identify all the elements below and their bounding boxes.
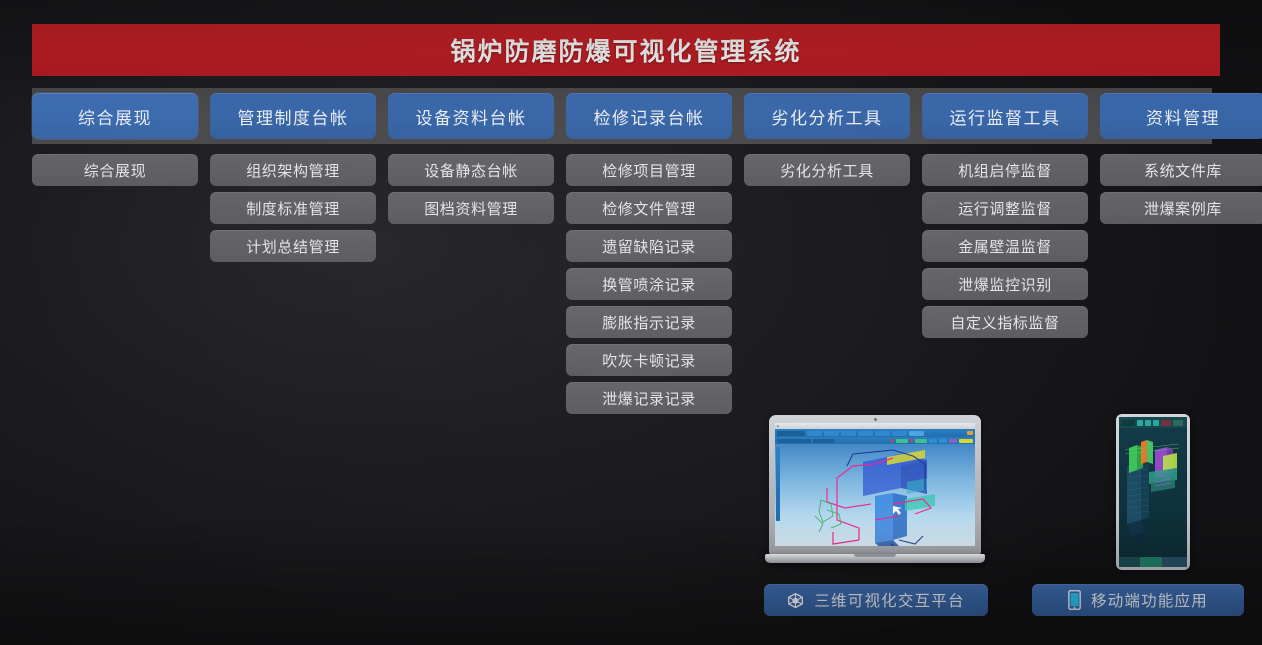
sub-menu-column-4: 劣化分析工具 bbox=[744, 154, 910, 420]
nav-tab-label: 劣化分析工具 bbox=[772, 104, 883, 129]
cube-3d-icon bbox=[787, 592, 804, 609]
phone-app-bottombar bbox=[1119, 557, 1187, 567]
sub-menu-item[interactable]: 泄爆监控识别 bbox=[922, 268, 1088, 300]
sub-menu-item[interactable]: 综合展现 bbox=[32, 154, 198, 186]
phone-toolbar-icon bbox=[1153, 420, 1159, 426]
sub-menu-item[interactable]: 制度标准管理 bbox=[210, 192, 376, 224]
inner-app-tab bbox=[892, 431, 907, 436]
sub-menu-item-label: 劣化分析工具 bbox=[780, 160, 874, 181]
inner-app-action-button bbox=[939, 439, 947, 443]
sub-menu-item-label: 检修项目管理 bbox=[602, 160, 696, 181]
phone-toolbar-icon bbox=[1145, 420, 1151, 426]
nav-tab-0[interactable]: 综合展现 bbox=[32, 93, 198, 139]
sub-menu-item-label: 吹灰卡顿记录 bbox=[602, 350, 696, 371]
inner-app-tab bbox=[858, 431, 873, 436]
sub-menu-column-5: 机组启停监督运行调整监督金属壁温监督泄爆监控识别自定义指标监督 bbox=[922, 154, 1088, 420]
sub-menu-item-label: 运行调整监督 bbox=[958, 198, 1052, 219]
inner-app-tab bbox=[807, 431, 822, 436]
inner-app-action-button bbox=[929, 439, 937, 443]
sub-menu-item[interactable]: 泄爆记录记录 bbox=[566, 382, 732, 414]
nav-tab-label: 综合展现 bbox=[78, 104, 152, 129]
sub-menu-item[interactable]: 计划总结管理 bbox=[210, 230, 376, 262]
laptop-base bbox=[765, 554, 985, 563]
nav-tab-5[interactable]: 运行监督工具 bbox=[922, 93, 1088, 139]
laptop-notch bbox=[854, 554, 896, 557]
inner-app-user-icon bbox=[967, 431, 973, 435]
sub-menu-item[interactable]: 运行调整监督 bbox=[922, 192, 1088, 224]
sub-menu-item-label: 泄爆案例库 bbox=[1144, 198, 1222, 219]
sub-menu-item-label: 图档资料管理 bbox=[424, 198, 518, 219]
nav-tab-label: 管理制度台帐 bbox=[238, 104, 349, 129]
inner-app-legend-pill bbox=[896, 439, 908, 443]
inner-app-status-dot bbox=[891, 439, 894, 442]
nav-tab-label: 资料管理 bbox=[1146, 104, 1220, 129]
sub-menu-item[interactable]: 机组启停监督 bbox=[922, 154, 1088, 186]
mobile-caption-label: 移动端功能应用 bbox=[1091, 589, 1208, 611]
sub-menu-item[interactable]: 设备静态台帐 bbox=[388, 154, 554, 186]
inner-app-tabrow bbox=[775, 429, 975, 437]
sub-menu-column-3: 检修项目管理检修文件管理遗留缺陷记录换管喷涂记录膨胀指示记录吹灰卡顿记录泄爆记录… bbox=[566, 154, 732, 420]
sub-menu-columns: 综合展现组织架构管理制度标准管理计划总结管理设备静态台帐图档资料管理检修项目管理… bbox=[32, 154, 1262, 420]
desktop-showcase-mockup: ■ bbox=[765, 415, 985, 565]
sub-menu-item[interactable]: 检修项目管理 bbox=[566, 154, 732, 186]
inner-app-tab bbox=[841, 431, 856, 436]
inner-app-select bbox=[813, 439, 835, 443]
nav-tab-4[interactable]: 劣化分析工具 bbox=[744, 93, 910, 139]
page-title: 锅炉防磨防爆可视化管理系统 bbox=[450, 32, 801, 68]
phone-toolbar-icon bbox=[1137, 420, 1143, 426]
inner-app-tab bbox=[875, 431, 890, 436]
nav-tab-2[interactable]: 设备资料台帐 bbox=[388, 93, 554, 139]
sub-menu-column-6: 系统文件库泄爆案例库 bbox=[1100, 154, 1262, 420]
sub-menu-item-label: 金属壁温监督 bbox=[958, 236, 1052, 257]
laptop-lid: ■ bbox=[769, 415, 981, 555]
sub-menu-item[interactable]: 遗留缺陷记录 bbox=[566, 230, 732, 262]
sub-menu-item[interactable]: 金属壁温监督 bbox=[922, 230, 1088, 262]
sub-menu-column-1: 组织架构管理制度标准管理计划总结管理 bbox=[210, 154, 376, 420]
sub-menu-item[interactable]: 自定义指标监督 bbox=[922, 306, 1088, 338]
app-title-banner: 锅炉防磨防爆可视化管理系统 bbox=[32, 24, 1220, 76]
mobile-phone-icon bbox=[1068, 590, 1081, 610]
laptop-screen: ■ bbox=[775, 423, 975, 546]
sub-menu-item[interactable]: 换管喷涂记录 bbox=[566, 268, 732, 300]
sub-menu-item[interactable]: 膨胀指示记录 bbox=[566, 306, 732, 338]
sub-menu-item-label: 计划总结管理 bbox=[246, 236, 340, 257]
sub-menu-item-label: 系统文件库 bbox=[1144, 160, 1222, 181]
inner-app-action-button bbox=[949, 439, 957, 443]
sub-menu-item[interactable]: 系统文件库 bbox=[1100, 154, 1262, 186]
sub-menu-item-label: 膨胀指示记录 bbox=[602, 312, 696, 333]
inner-app-legend-pill bbox=[915, 439, 927, 443]
phone-bottom-button bbox=[1140, 557, 1161, 567]
sub-menu-item[interactable]: 泄爆案例库 bbox=[1100, 192, 1262, 224]
nav-tab-label: 设备资料台帐 bbox=[416, 104, 527, 129]
sub-menu-item-label: 检修文件管理 bbox=[602, 198, 696, 219]
sub-menu-item-label: 泄爆记录记录 bbox=[602, 388, 696, 409]
inner-app-tab bbox=[824, 431, 839, 436]
mobile-showcase-mockup bbox=[1116, 414, 1190, 570]
sub-menu-item-label: 自定义指标监督 bbox=[950, 312, 1059, 333]
sub-menu-item-label: 遗留缺陷记录 bbox=[602, 236, 696, 257]
sub-menu-item-label: 设备静态台帐 bbox=[424, 160, 518, 181]
nav-tab-3[interactable]: 检修记录台帐 bbox=[566, 93, 732, 139]
inner-app-logo bbox=[777, 431, 805, 436]
phone-bottom-select bbox=[1119, 557, 1140, 567]
sub-menu-item-label: 制度标准管理 bbox=[246, 198, 340, 219]
phone-bottom-button bbox=[1162, 557, 1188, 567]
inner-app-search-field bbox=[777, 439, 811, 443]
sub-menu-item-label: 机组启停监督 bbox=[958, 160, 1052, 181]
phone-3d-viewport bbox=[1119, 428, 1187, 557]
inner-app-action-button bbox=[959, 439, 973, 443]
sub-menu-item[interactable]: 吹灰卡顿记录 bbox=[566, 344, 732, 376]
mobile-boiler-3d-model bbox=[1119, 428, 1187, 553]
phone-screen bbox=[1119, 417, 1187, 567]
desktop-caption-button[interactable]: 三维可视化交互平台 bbox=[764, 584, 988, 616]
sub-menu-column-2: 设备静态台帐图档资料管理 bbox=[388, 154, 554, 420]
phone-app-topbar bbox=[1119, 417, 1187, 428]
boiler-3d-model bbox=[775, 444, 975, 546]
primary-nav-tabs: 综合展现管理制度台帐设备资料台帐检修记录台帐劣化分析工具运行监督工具资料管理 bbox=[32, 93, 1262, 139]
phone-app-logo bbox=[1121, 420, 1135, 426]
mobile-caption-button[interactable]: 移动端功能应用 bbox=[1032, 584, 1244, 616]
sub-menu-item[interactable]: 检修文件管理 bbox=[566, 192, 732, 224]
nav-tab-1[interactable]: 管理制度台帐 bbox=[210, 93, 376, 139]
sub-menu-item-label: 综合展现 bbox=[84, 160, 146, 181]
sub-menu-item-label: 换管喷涂记录 bbox=[602, 274, 696, 295]
inner-app-status-dot bbox=[910, 439, 913, 442]
sub-menu-item[interactable]: 图档资料管理 bbox=[388, 192, 554, 224]
sub-menu-item[interactable]: 组织架构管理 bbox=[210, 154, 376, 186]
inner-app-toolbar bbox=[775, 437, 975, 444]
nav-tab-label: 检修记录台帐 bbox=[594, 104, 705, 129]
desktop-caption-label: 三维可视化交互平台 bbox=[814, 589, 964, 611]
laptop-camera-icon bbox=[874, 418, 877, 421]
inner-app-tab-active bbox=[909, 431, 924, 436]
phone-topbar-button bbox=[1161, 420, 1171, 426]
sub-menu-item-label: 泄爆监控识别 bbox=[958, 274, 1052, 295]
sub-menu-item[interactable]: 劣化分析工具 bbox=[744, 154, 910, 186]
phone-topbar-button bbox=[1173, 420, 1183, 426]
sub-menu-column-0: 综合展现 bbox=[32, 154, 198, 420]
nav-tab-6[interactable]: 资料管理 bbox=[1100, 93, 1262, 139]
nav-tab-label: 运行监督工具 bbox=[950, 104, 1061, 129]
sub-menu-item-label: 组织架构管理 bbox=[246, 160, 340, 181]
